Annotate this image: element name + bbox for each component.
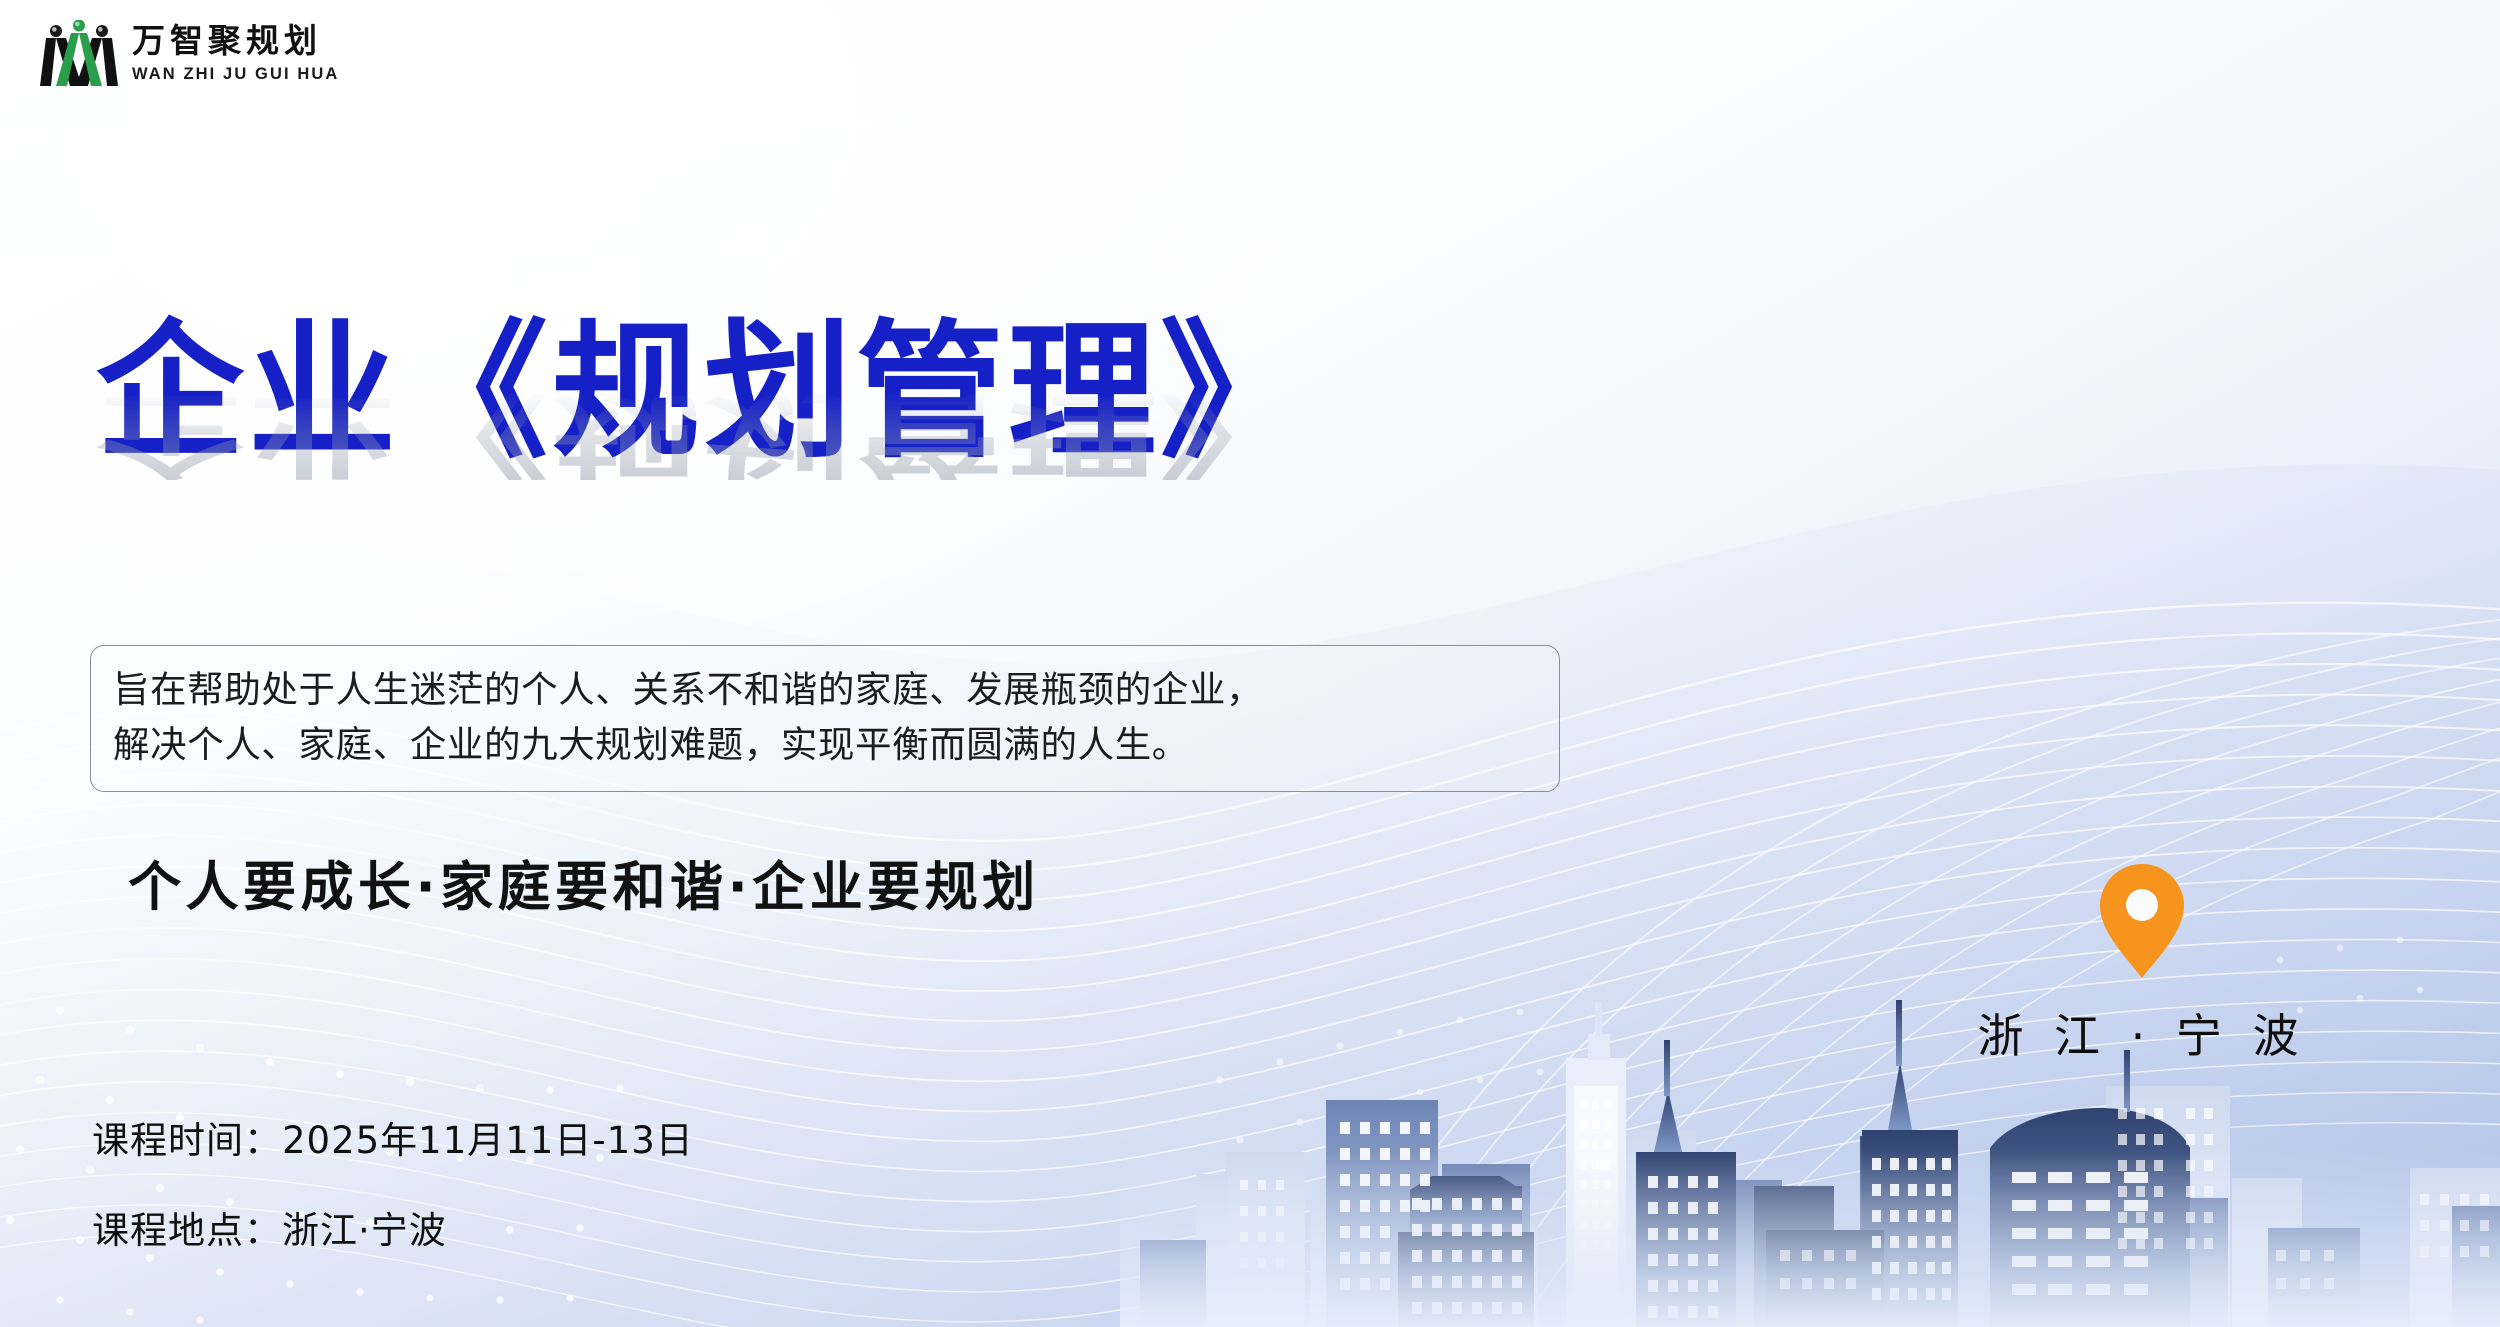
brand-name-cn: 万智聚规划 <box>132 26 339 59</box>
brand-text: 万智聚规划 WAN ZHI JU GUI HUA <box>132 26 339 83</box>
description-line-2: 解决个人、家庭、企业的九大规划难题，实现平衡而圆满的人生。 <box>113 717 1539 772</box>
tagline: 个人要成长·家庭要和谐·企业要规划 <box>128 845 1040 921</box>
map-pin-icon <box>2096 862 2188 980</box>
description-box: 旨在帮助处于人生迷茫的个人、关系不和谐的家庭、发展瓶颈的企业， 解决个人、家庭、… <box>90 645 1560 792</box>
course-time: 课程时间：2025年11月11日-13日 <box>92 1110 694 1164</box>
location-badge: 浙 江 · 宁 波 <box>1952 862 2332 1066</box>
brand-logo: 万智聚规划 WAN ZHI JU GUI HUA <box>40 20 339 88</box>
three-people-mountain-logo-icon <box>40 20 118 88</box>
description-line-1: 旨在帮助处于人生迷茫的个人、关系不和谐的家庭、发展瓶颈的企业， <box>113 662 1539 717</box>
hero-title-block: 企业《规划管理》 企业《规划管理》 <box>96 318 1312 466</box>
course-info: 课程时间：2025年11月11日-13日 课程地点：浙江·宁波 <box>92 1110 694 1290</box>
location-label: 浙 江 · 宁 波 <box>1952 1000 2332 1066</box>
hero-title-reflection: 企业《规划管理》 <box>96 388 1312 480</box>
brand-name-pinyin: WAN ZHI JU GUI HUA <box>132 66 339 83</box>
course-place: 课程地点：浙江·宁波 <box>92 1200 694 1254</box>
poster-canvas: 万智聚规划 WAN ZHI JU GUI HUA 企业《规划管理》 企业《规划管… <box>0 0 2500 1327</box>
